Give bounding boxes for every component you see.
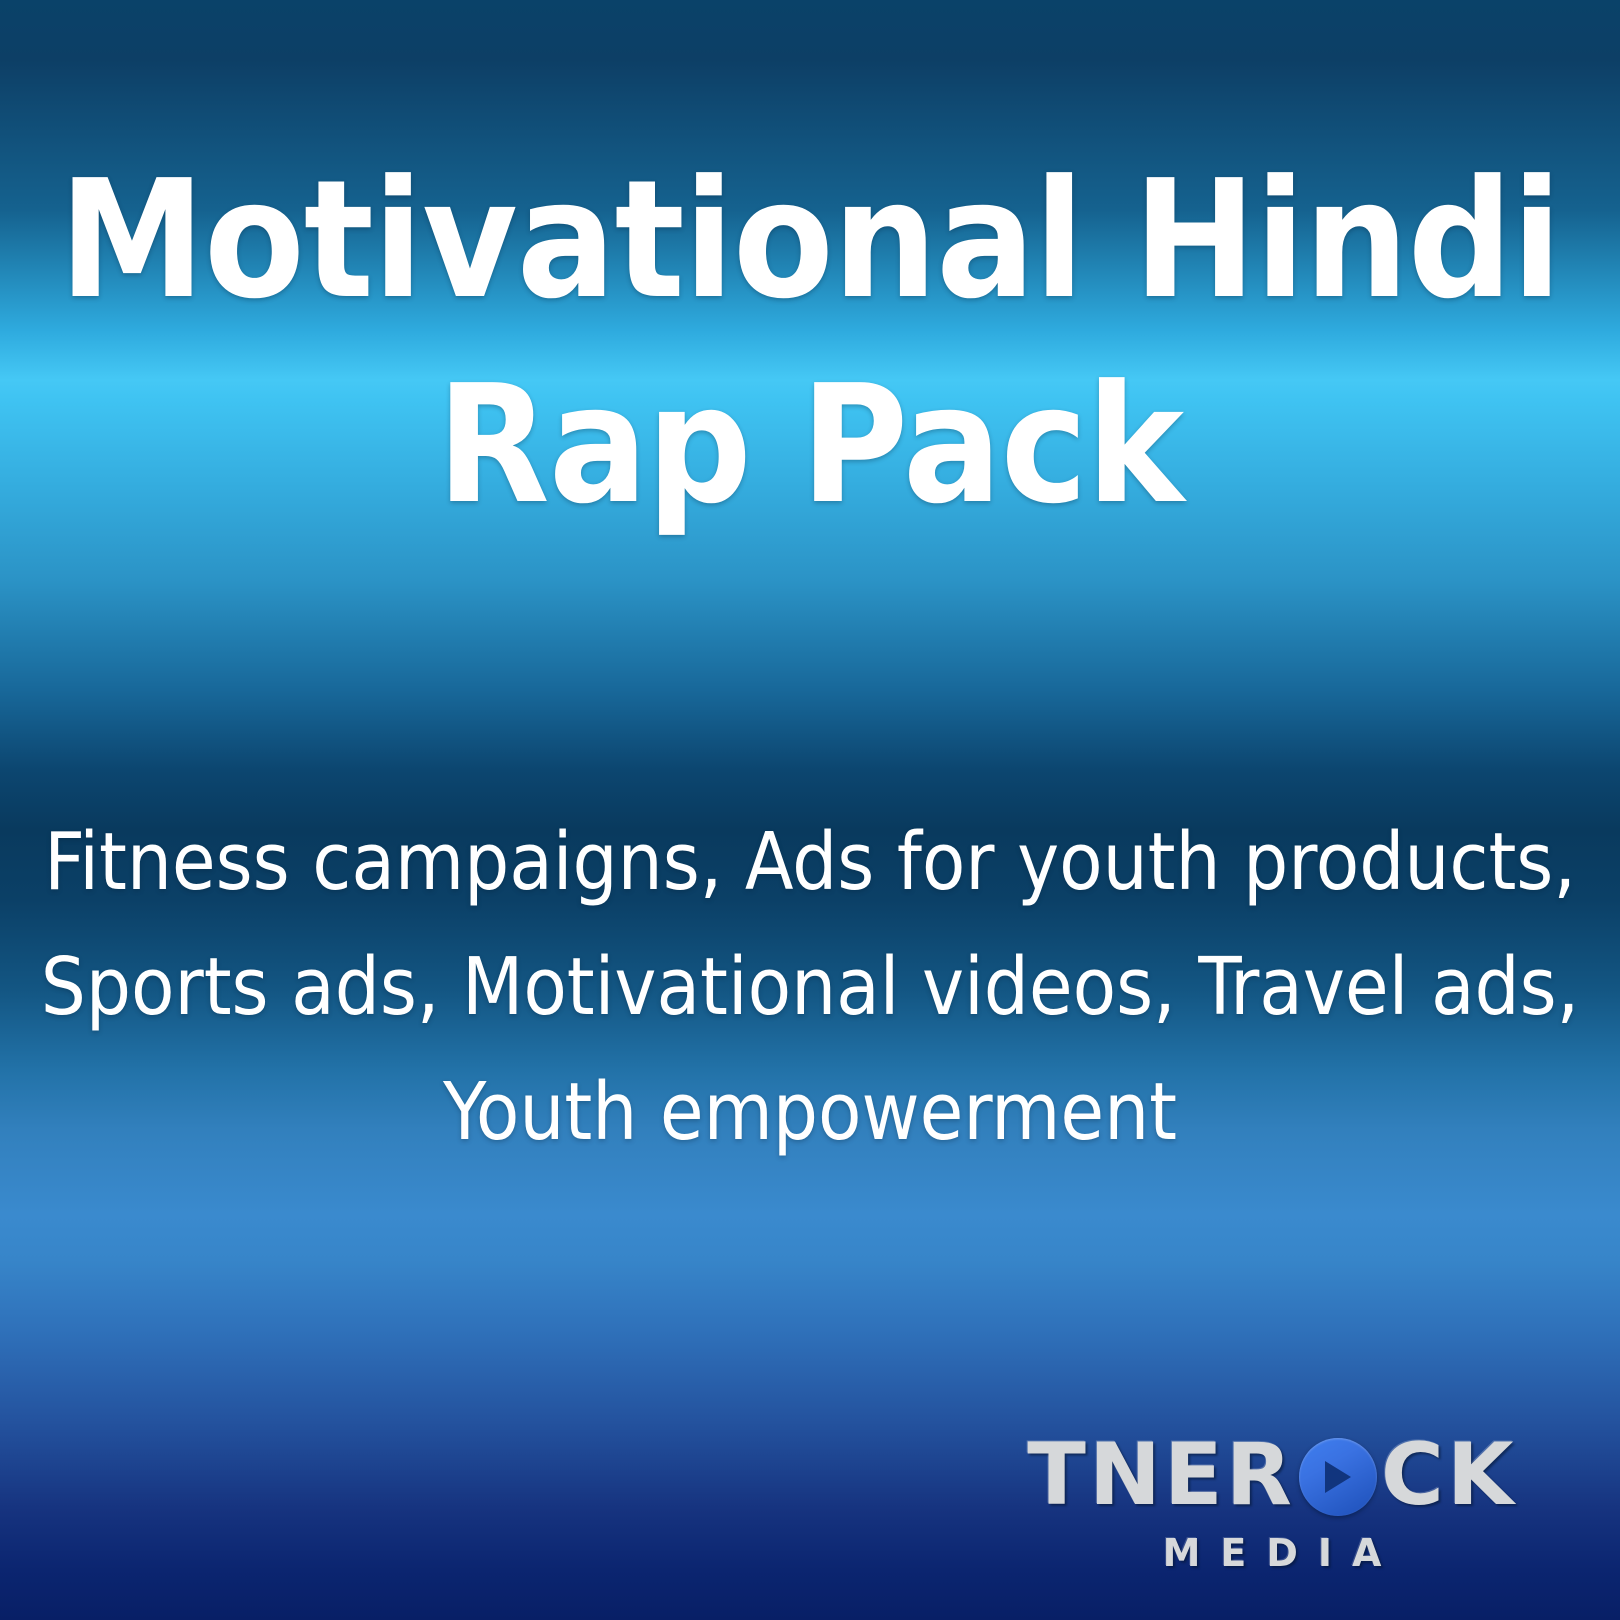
tonerock-media-logo: T NER CK MEDIA — [1012, 1432, 1532, 1572]
subtitle-line-2: Sports ads, Motivational videos, Travel … — [34, 925, 1586, 1050]
album-artwork-canvas: Motivational Hindi Rap Pack Fitness camp… — [0, 0, 1620, 1620]
artwork-subtitle: Fitness campaigns, Ads for youth product… — [0, 800, 1620, 1174]
logo-tagline: MEDIA — [1012, 1534, 1532, 1572]
play-icon — [1299, 1438, 1377, 1516]
subtitle-line-3: Youth empowerment — [34, 1050, 1586, 1175]
logo-wordmark: T NER CK — [1012, 1432, 1532, 1518]
title-line-1: Motivational Hindi — [30, 138, 1590, 343]
artwork-title: Motivational Hindi Rap Pack — [0, 138, 1620, 549]
logo-wordmark-mid: NER — [1089, 1432, 1295, 1518]
logo-wordmark-after: CK — [1381, 1432, 1517, 1518]
subtitle-line-1: Fitness campaigns, Ads for youth product… — [34, 800, 1586, 925]
logo-wordmark-before: T — [1027, 1432, 1089, 1518]
title-line-2: Rap Pack — [30, 343, 1590, 548]
